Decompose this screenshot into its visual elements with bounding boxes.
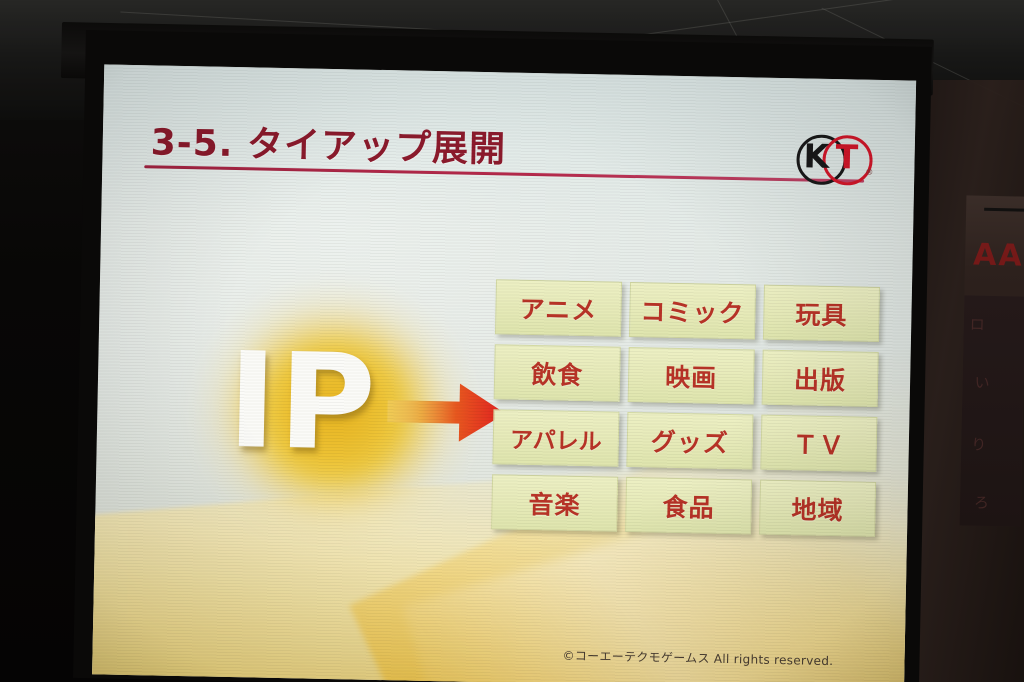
tieup-cell-anime[interactable]: アニメ [495,279,622,337]
poster-top-bar [984,208,1024,212]
tieup-cell-apparel[interactable]: アパレル [492,409,619,467]
tieup-cell-publishing[interactable]: 出版 [762,350,879,407]
ip-label: IP [226,335,378,470]
tieup-cell-foodstuff[interactable]: 食品 [625,477,752,535]
tieup-cell-comic[interactable]: コミック [629,282,756,340]
poster-scribble: ろ [974,492,989,513]
poster-scribble: り [971,434,986,455]
kt-logo-letter-t: T [835,138,858,176]
kt-logo: K T ® [794,132,873,186]
poster-scribble: ロ [970,313,985,334]
poster-heading: AA [973,238,1024,274]
presentation-slide: 3-5. タイアップ展開 K T ® IP [92,64,916,682]
wall-poster: AA ロ い り ろ [960,195,1024,526]
tieup-cell-music[interactable]: 音楽 [491,474,618,532]
projector-screen-frame: 3-5. タイアップ展開 K T ® IP [73,30,932,682]
poster-body: ロ い り ろ [960,295,1024,526]
tieup-cell-movie[interactable]: 映画 [628,347,755,405]
page-title: 3-5. タイアップ展開 [150,113,506,172]
tieup-cell-toys[interactable]: 玩具 [763,285,880,342]
tieup-cell-goods[interactable]: グッズ [626,412,753,470]
tieup-cell-food-and-drink[interactable]: 飲食 [494,344,621,402]
tieup-cell-tv[interactable]: ＴＶ [760,415,877,472]
kt-logo-letter-k: K [803,137,829,176]
poster-scribble: い [974,372,989,393]
right-arrow-icon [387,378,508,446]
tieup-category-grid: アニメ コミック 玩具 飲食 映画 出版 アパレル グッズ ＴＶ 音楽 食品 地… [491,279,892,537]
screenshot-root: AA ロ い り ろ 3-5. タイアップ展開 K T ® [0,0,1024,682]
tieup-cell-region[interactable]: 地域 [759,480,876,537]
registered-mark-icon: ® [865,168,873,177]
